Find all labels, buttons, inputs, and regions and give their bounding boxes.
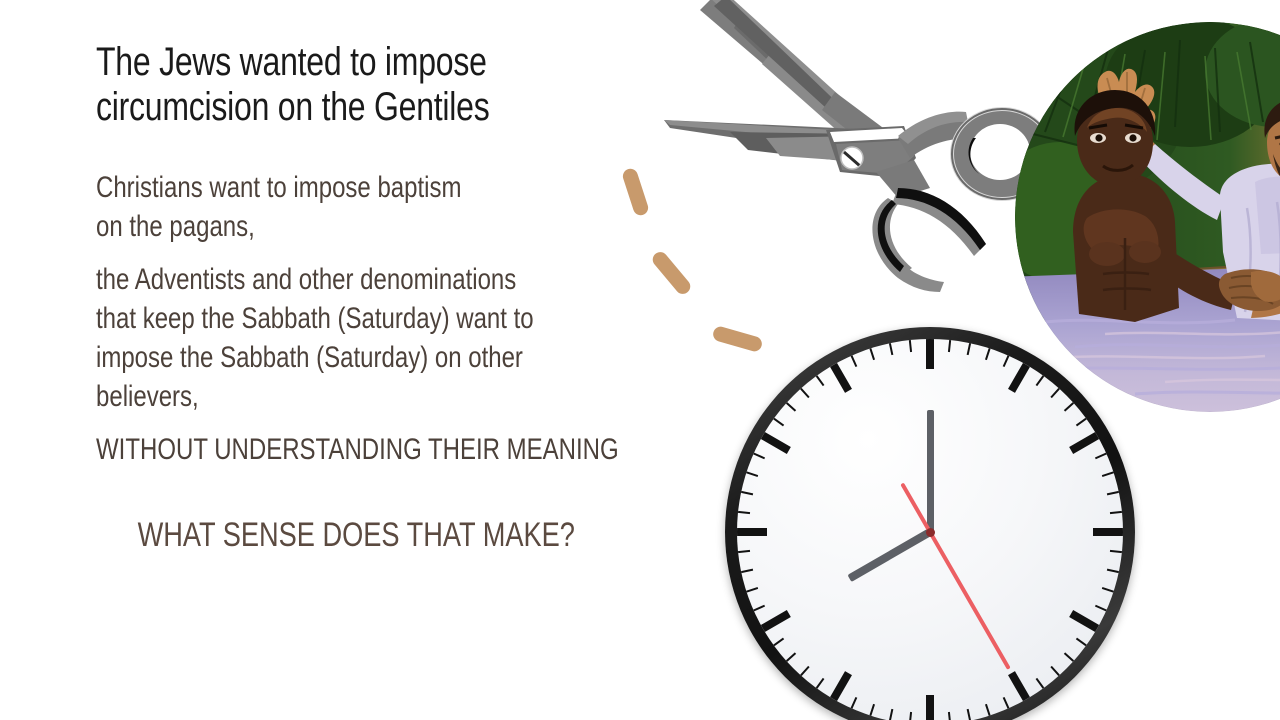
clock-tick-minor: [1110, 550, 1122, 553]
clock-tick-major: [1069, 610, 1099, 632]
slide-canvas: The Jews wanted to impose circumcision o…: [0, 0, 1280, 720]
clock-tick-minor: [741, 569, 753, 573]
clock-tick-minor: [985, 704, 991, 716]
clock-tick-minor: [851, 697, 858, 709]
clock-tick-minor: [800, 388, 810, 398]
clock-tick-minor: [1064, 652, 1074, 662]
clock-tick-minor: [1110, 511, 1122, 514]
closing-question: WHAT SENSE DOES THAT MAKE?: [96, 515, 736, 556]
clock-tick-minor: [800, 666, 810, 676]
clock-tick-minor: [738, 511, 750, 514]
clock-tick-minor: [1003, 697, 1010, 709]
clock-tick-minor: [816, 375, 825, 386]
clock-tick-minor: [851, 355, 858, 367]
clock-tick-minor: [1095, 453, 1107, 460]
clock-tick-minor: [967, 343, 971, 355]
clock-tick-minor: [741, 491, 753, 495]
text-column: The Jews wanted to impose circumcision o…: [96, 40, 736, 555]
clock-hour-hand: [847, 529, 932, 582]
clock-tick-major: [761, 432, 791, 454]
clock-tick-minor: [773, 418, 784, 427]
clock-tick-minor: [773, 638, 784, 647]
clock-tick-minor: [1107, 569, 1119, 573]
clock-tick-major: [1069, 432, 1099, 454]
clock-tick-major: [830, 363, 852, 393]
clock-face: [737, 339, 1123, 720]
clock-tick-minor: [1036, 375, 1045, 386]
analog-wall-clock: [725, 327, 1135, 720]
clock-tick-major: [1008, 671, 1030, 701]
clock-tick-major: [1008, 363, 1030, 393]
body-paragraph-1: Christians want to impose baptism on the…: [96, 168, 736, 246]
clock-tick-minor: [816, 678, 825, 689]
clock-tick-minor: [786, 652, 796, 662]
clock-tick-major: [926, 695, 934, 720]
clock-tick-minor: [746, 587, 758, 593]
clock-tick-minor: [909, 712, 912, 720]
clock-tick-minor: [1102, 471, 1114, 477]
clock-tick-minor: [1064, 402, 1074, 412]
clock-tick-major: [1093, 528, 1123, 536]
clock-tick-minor: [1050, 388, 1060, 398]
clock-tick-minor: [753, 453, 765, 460]
clock-tick-major: [761, 610, 791, 632]
clock-tick-minor: [1003, 355, 1010, 367]
clock-center-cap: [926, 528, 935, 537]
clock-tick-minor: [869, 348, 875, 360]
clock-minute-hand: [927, 410, 934, 532]
clock-tick-minor: [1102, 587, 1114, 593]
clock-tick-minor: [1076, 418, 1087, 427]
clock-tick-minor: [786, 402, 796, 412]
clock-tick-minor: [1107, 491, 1119, 495]
body-paragraph-3: WITHOUT UNDERSTANDING THEIR MEANING: [96, 430, 736, 469]
clock-tick-minor: [869, 704, 875, 716]
clock-tick-minor: [753, 605, 765, 612]
clock-tick-minor: [889, 343, 893, 355]
clock-tick-minor: [738, 550, 750, 553]
clock-tick-minor: [948, 712, 951, 720]
clock-tick-major: [926, 339, 934, 369]
clock-tick-minor: [746, 471, 758, 477]
clock-tick-major: [830, 671, 852, 701]
clock-tick-minor: [1050, 666, 1060, 676]
page-title: The Jews wanted to impose circumcision o…: [96, 40, 736, 130]
clock-tick-minor: [985, 348, 991, 360]
body-paragraph-2: the Adventists and other denominations t…: [96, 260, 736, 416]
clock-tick-minor: [909, 340, 912, 352]
clock-tick-major: [737, 528, 767, 536]
clock-tick-minor: [889, 709, 893, 720]
clock-tick-minor: [1095, 605, 1107, 612]
clock-tick-minor: [967, 709, 971, 720]
clock-tick-minor: [1076, 638, 1087, 647]
clock-tick-minor: [948, 340, 951, 352]
clock-second-hand: [928, 531, 1010, 670]
clock-tick-minor: [1036, 678, 1045, 689]
